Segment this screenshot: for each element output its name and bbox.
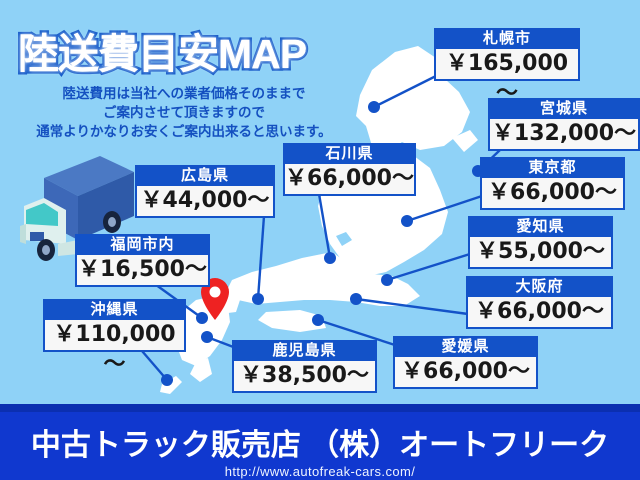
price-label-fukuoka[interactable]: 福岡市内 ￥16,500～	[75, 234, 210, 287]
company-url[interactable]: http://www.autofreak-cars.com/	[0, 464, 640, 479]
price-label-hiroshima[interactable]: 広島県 ￥44,000～	[135, 165, 275, 218]
region-name: 大阪府	[466, 276, 613, 297]
price-label-kagoshima[interactable]: 鹿児島県 ￥38,500～	[232, 340, 377, 393]
region-price: ￥66,000～	[466, 297, 613, 329]
region-price: ￥165,000～	[434, 49, 580, 81]
region-name: 広島県	[135, 165, 275, 186]
subtitle-block: 陸送費用は当社への業者価格そのままで ご案内させて頂きますので 通常よりかなりお…	[0, 84, 368, 141]
region-name: 札幌市	[434, 28, 580, 49]
company-name: 中古トラック販売店 （株）オートフリーク	[0, 420, 640, 464]
region-price: ￥66,000～	[393, 357, 538, 389]
subtitle-line-3: 通常よりかなりお安くご案内出来ると思います。	[0, 122, 368, 141]
region-name: 愛知県	[468, 216, 613, 237]
region-name: 鹿児島県	[232, 340, 377, 361]
region-name: 愛媛県	[393, 336, 538, 357]
region-name: 福岡市内	[75, 234, 210, 255]
region-name: 宮城県	[488, 98, 640, 119]
price-label-tokyo[interactable]: 東京都 ￥66,000～	[480, 157, 625, 210]
region-price: ￥38,500～	[232, 361, 377, 393]
price-label-okinawa[interactable]: 沖縄県 ￥110,000～	[43, 299, 186, 352]
price-label-sapporo[interactable]: 札幌市 ￥165,000～	[434, 28, 580, 81]
region-name: 東京都	[480, 157, 625, 178]
region-price: ￥132,000～	[488, 119, 640, 151]
footer-divider	[0, 404, 640, 412]
poster-canvas: 陸送費目安MAP 陸送費目安MAP 陸送費用は当社への業者価格そのままで ご案内…	[0, 0, 640, 480]
region-price: ￥66,000～	[283, 164, 416, 196]
price-label-aichi[interactable]: 愛知県 ￥55,000～	[468, 216, 613, 269]
price-label-ishikawa[interactable]: 石川県 ￥66,000～	[283, 143, 416, 196]
price-label-ehime[interactable]: 愛媛県 ￥66,000～	[393, 336, 538, 389]
region-price: ￥44,000～	[135, 186, 275, 218]
region-price: ￥110,000～	[43, 320, 186, 352]
region-price: ￥66,000～	[480, 178, 625, 210]
region-price: ￥16,500～	[75, 255, 210, 287]
page-title: 陸送費目安MAP	[18, 20, 306, 80]
region-name: 沖縄県	[43, 299, 186, 320]
region-price: ￥55,000～	[468, 237, 613, 269]
price-label-osaka[interactable]: 大阪府 ￥66,000～	[466, 276, 613, 329]
subtitle-line-2: ご案内させて頂きますので	[0, 103, 368, 122]
subtitle-line-1: 陸送費用は当社への業者価格そのままで	[0, 84, 368, 103]
region-name: 石川県	[283, 143, 416, 164]
price-label-miyagi[interactable]: 宮城県 ￥132,000～	[488, 98, 640, 151]
footer-bar: 中古トラック販売店 （株）オートフリーク http://www.autofrea…	[0, 412, 640, 480]
